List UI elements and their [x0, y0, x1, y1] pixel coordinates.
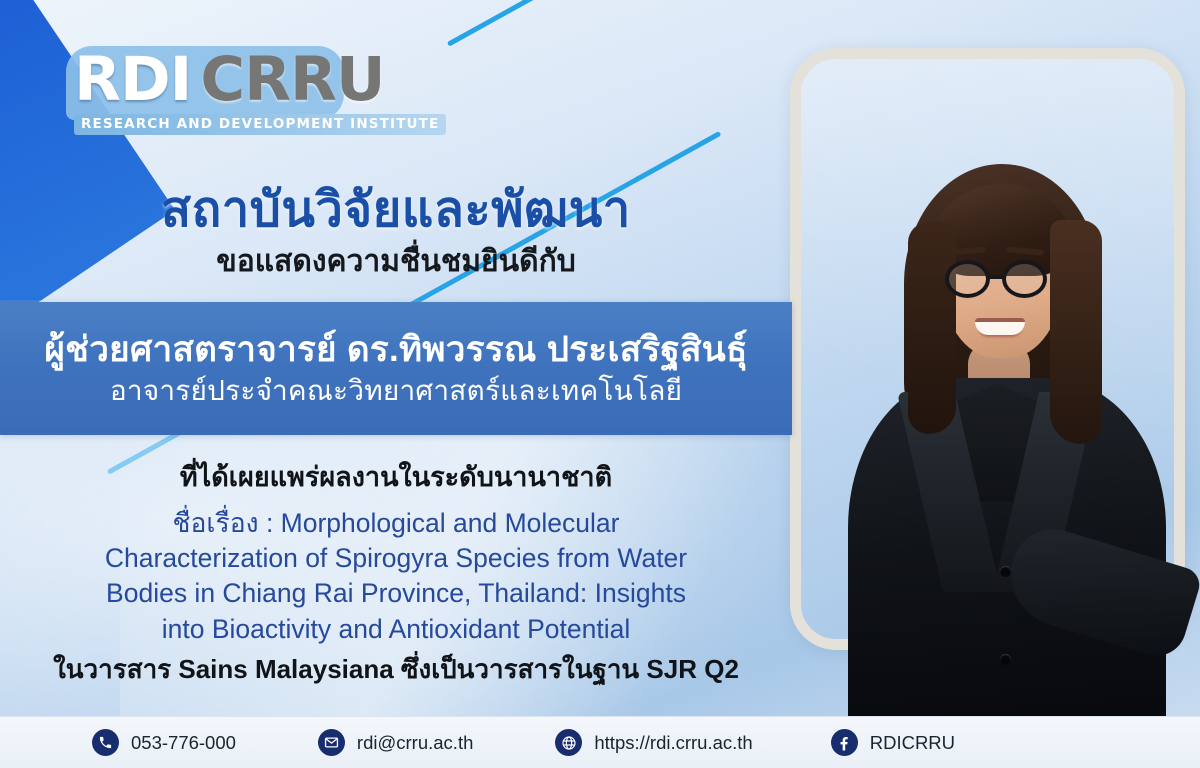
- facebook-icon: [831, 729, 858, 756]
- eyeglass-lens-right: [1002, 260, 1047, 298]
- page-title: สถาบันวิจัยและพัฒนา: [0, 170, 792, 248]
- accent-line-2: [447, 0, 554, 47]
- email-icon: [318, 729, 345, 756]
- publication-title-line-2: Characterization of Spirogyra Species fr…: [0, 541, 792, 576]
- logo-wordmark: RDI CRRU: [62, 44, 432, 115]
- footer-phone-label: 053-776-000: [131, 732, 236, 754]
- honoree-position: อาจารย์ประจำคณะวิทยาศาสตร์และเทคโนโลยี: [110, 373, 682, 408]
- rdi-crru-logo: RDI CRRU RESEARCH AND DEVELOPMENT INSTIT…: [62, 44, 432, 135]
- eyeglass-lens-left: [945, 260, 990, 298]
- phone-icon: [92, 729, 119, 756]
- congratulation-poster: RDI CRRU RESEARCH AND DEVELOPMENT INSTIT…: [0, 0, 1200, 768]
- page-subtitle: ขอแสดงความชื่นชมยินดีกับ: [0, 238, 792, 285]
- blazer-button-1: [1000, 566, 1011, 577]
- footer-contact-phone[interactable]: 053-776-000: [92, 729, 236, 756]
- honoree-banner: ผู้ช่วยศาสตราจารย์ ดร.ทิพวรรณ ประเสริฐสิ…: [0, 302, 792, 435]
- logo-subtitle: RESEARCH AND DEVELOPMENT INSTITUTE: [74, 114, 446, 135]
- footer-facebook-label: RDICRRU: [870, 732, 955, 754]
- footer-contact-email[interactable]: rdi@crru.ac.th: [318, 729, 473, 756]
- logo-text-crru: CRRU: [200, 44, 384, 115]
- publication-title-line-3: Bodies in Chiang Rai Province, Thailand:…: [0, 576, 792, 611]
- hair-side-right: [1050, 220, 1102, 444]
- contact-footer: 053-776-000 rdi@crru.ac.th https://rdi.c…: [0, 716, 1200, 768]
- globe-icon: [555, 729, 582, 756]
- footer-website-label: https://rdi.crru.ac.th: [594, 732, 752, 754]
- publication-title: ชื่อเรื่อง : Morphological and Molecular…: [0, 506, 792, 647]
- footer-contact-website[interactable]: https://rdi.crru.ac.th: [555, 729, 752, 756]
- logo-text-rdi: RDI: [74, 44, 191, 115]
- eyeglass-bridge: [989, 275, 1004, 279]
- publication-heading: ที่ได้เผยแพร่ผลงานในระดับนานาชาติ: [0, 455, 792, 498]
- blazer-button-2: [1000, 654, 1011, 665]
- honoree-name: ผู้ช่วยศาสตราจารย์ ดร.ทิพวรรณ ประเสริฐสิ…: [44, 329, 747, 372]
- footer-contact-facebook[interactable]: RDICRRU: [831, 729, 955, 756]
- mouth-smile: [975, 318, 1025, 335]
- footer-email-label: rdi@crru.ac.th: [357, 732, 473, 754]
- publication-block: ที่ได้เผยแพร่ผลงานในระดับนานาชาติ ชื่อเร…: [0, 455, 792, 687]
- publication-journal: ในวารสาร Sains Malaysiana ซึ่งเป็นวารสาร…: [0, 653, 792, 687]
- publication-title-line-1: ชื่อเรื่อง : Morphological and Molecular: [0, 506, 792, 541]
- portrait-photo: [812, 92, 1192, 729]
- publication-title-line-4: into Bioactivity and Antioxidant Potenti…: [0, 612, 792, 647]
